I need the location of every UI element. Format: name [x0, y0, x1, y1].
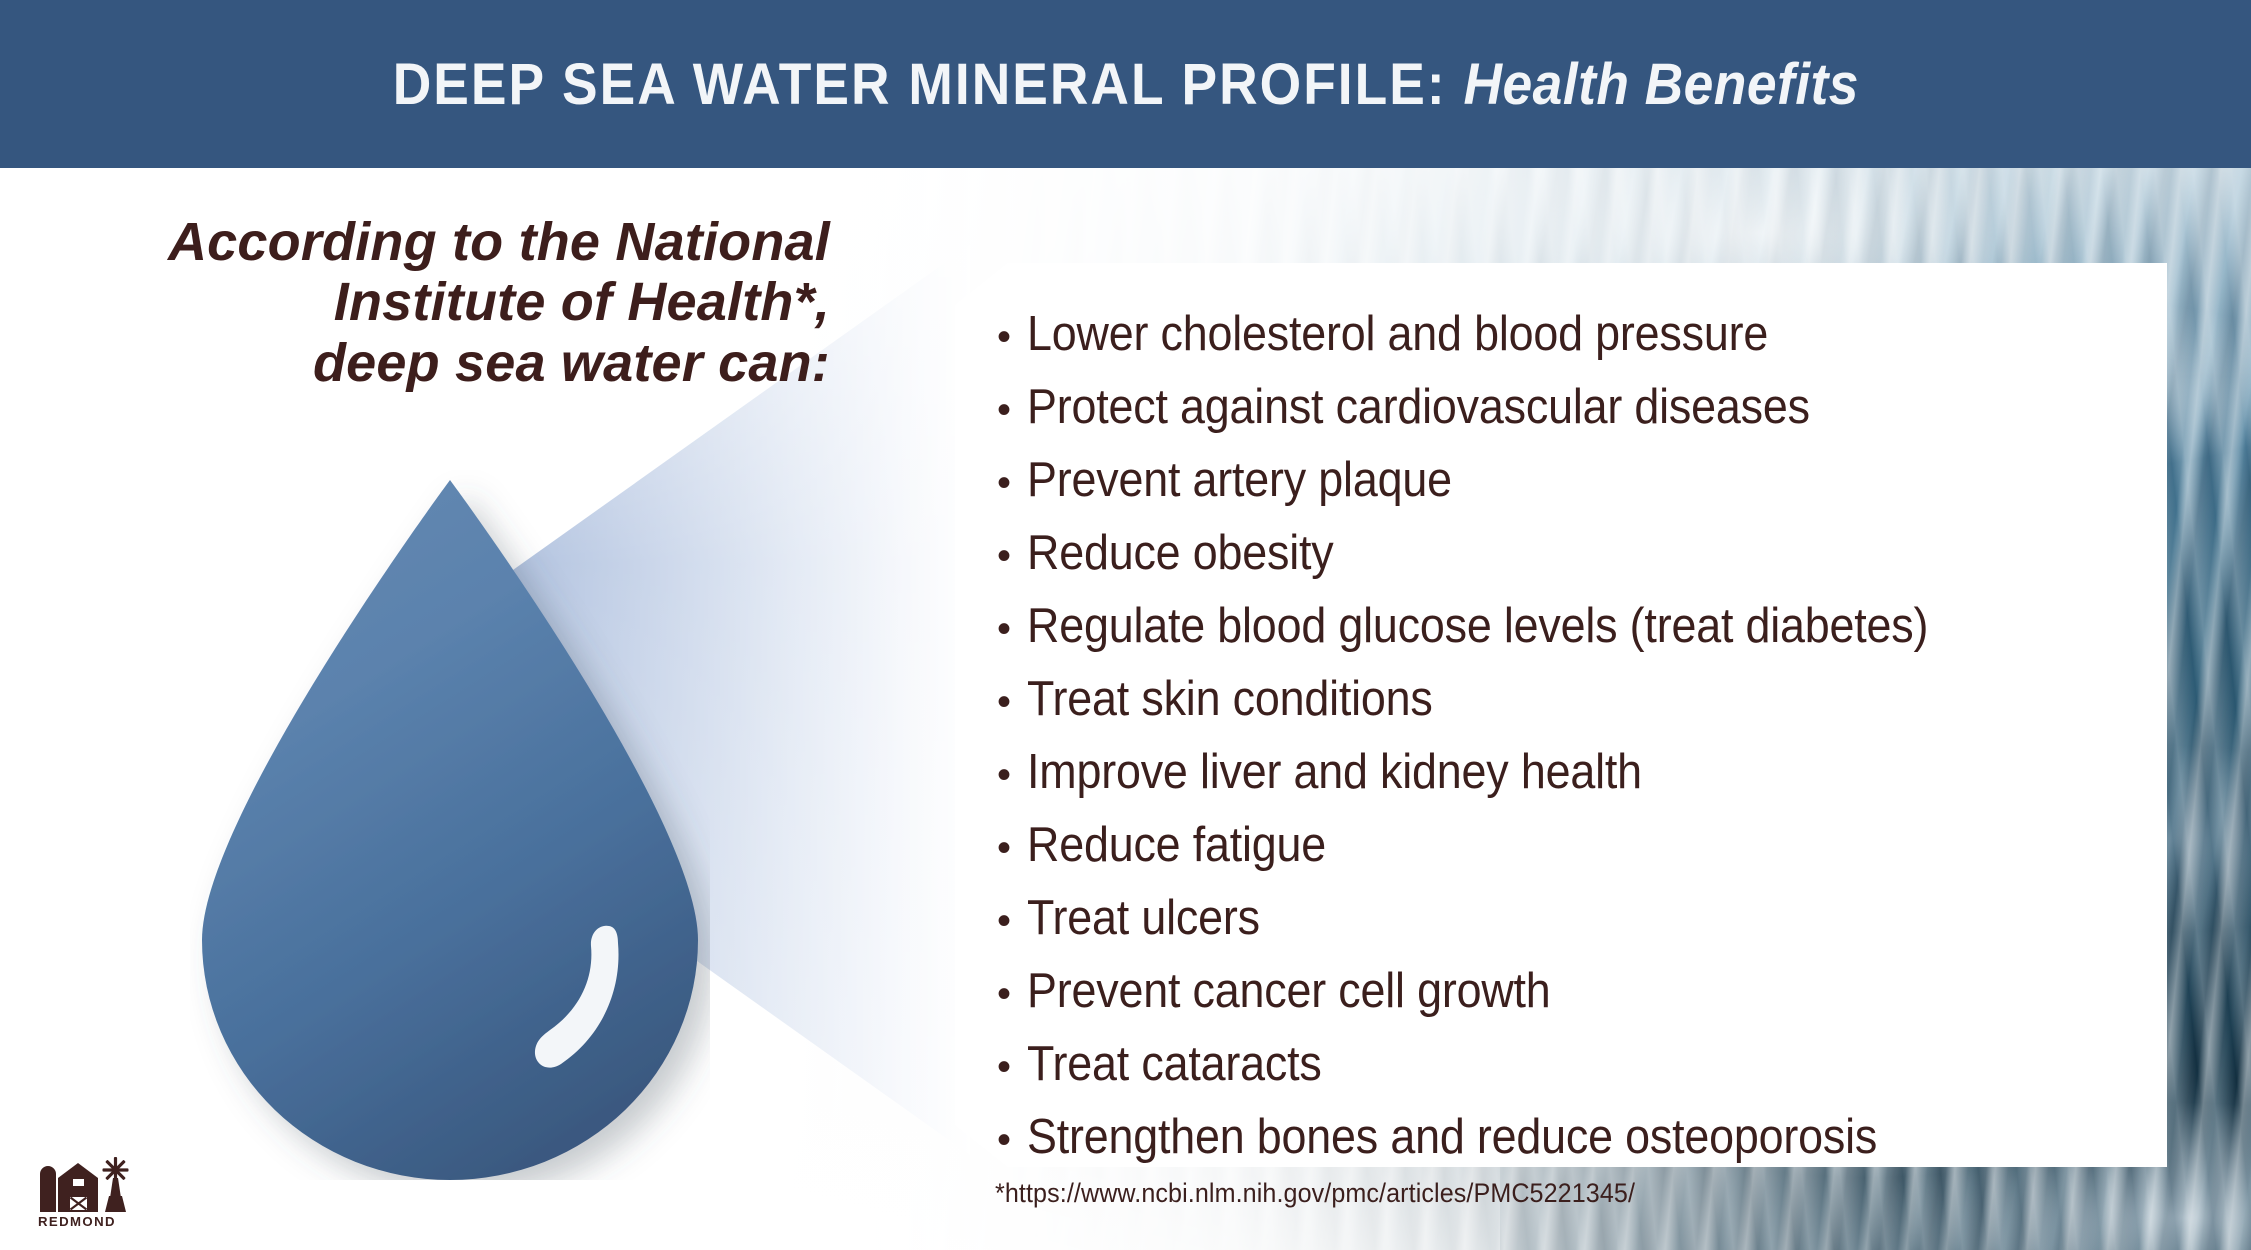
list-item: • Treat skin conditions [997, 664, 2143, 737]
lead-line-2: Institute of Health*, [40, 272, 830, 332]
list-item: • Treat ulcers [997, 883, 2143, 956]
source-footnote-text: *https://www.ncbi.nlm.nih.gov/pmc/articl… [995, 1178, 1635, 1209]
list-item: • Reduce obesity [997, 518, 2143, 591]
header-bar: DEEP SEA WATER MINERAL PROFILE: Health B… [0, 0, 2251, 168]
list-item-label: Protect against cardiovascular diseases [1027, 372, 1810, 442]
list-item: • Strengthen bones and reduce osteoporos… [997, 1102, 2143, 1175]
water-droplet-icon [190, 470, 710, 1180]
list-item-label: Improve liver and kidney health [1027, 737, 1642, 807]
list-item: • Lower cholesterol and blood pressure [997, 299, 2143, 372]
lead-line-3: deep sea water can: [40, 333, 830, 393]
source-footnote: *https://www.ncbi.nlm.nih.gov/pmc/articl… [995, 1178, 1683, 1209]
bullet-dot-icon: • [997, 959, 1027, 1029]
list-item: • Regulate blood glucose levels (treat d… [997, 591, 2143, 664]
redmond-logo: REDMOND [36, 1152, 136, 1230]
list-item: • Prevent cancer cell growth [997, 956, 2143, 1029]
list-item-label: Regulate blood glucose levels (treat dia… [1027, 591, 1928, 661]
list-item-label: Prevent cancer cell growth [1027, 956, 1551, 1026]
list-item: • Protect against cardiovascular disease… [997, 372, 2143, 445]
lead-heading: According to the National Institute of H… [40, 212, 830, 393]
list-item-label: Treat ulcers [1027, 883, 1260, 953]
bullet-dot-icon: • [997, 813, 1027, 883]
list-item-label: Treat cataracts [1027, 1029, 1322, 1099]
list-item-label: Reduce fatigue [1027, 810, 1326, 880]
bullet-dot-icon: • [997, 375, 1027, 445]
bullet-dot-icon: • [997, 302, 1027, 372]
list-item: • Prevent artery plaque [997, 445, 2143, 518]
bullet-dot-icon: • [997, 521, 1027, 591]
benefits-list: • Lower cholesterol and blood pressure •… [997, 299, 2143, 1175]
benefits-card: • Lower cholesterol and blood pressure •… [955, 263, 2167, 1167]
slide-canvas: DEEP SEA WATER MINERAL PROFILE: Health B… [0, 0, 2251, 1250]
page-title: DEEP SEA WATER MINERAL PROFILE: Health B… [392, 51, 1858, 118]
list-item-label: Lower cholesterol and blood pressure [1027, 299, 1768, 369]
bullet-dot-icon: • [997, 448, 1027, 518]
bullet-dot-icon: • [997, 594, 1027, 664]
list-item-label: Treat skin conditions [1027, 664, 1433, 734]
list-item: • Reduce fatigue [997, 810, 2143, 883]
bullet-dot-icon: • [997, 1032, 1027, 1102]
bullet-dot-icon: • [997, 886, 1027, 956]
benefits-card-inner: • Lower cholesterol and blood pressure •… [997, 299, 2143, 1143]
list-item-label: Strengthen bones and reduce osteoporosis [1027, 1102, 1877, 1172]
page-title-main: DEEP SEA WATER MINERAL PROFILE: [392, 52, 1446, 117]
list-item-label: Prevent artery plaque [1027, 445, 1452, 515]
page-title-accent: Health Benefits [1463, 52, 1858, 117]
list-item-label: Reduce obesity [1027, 518, 1333, 588]
redmond-wordmark: REDMOND [38, 1214, 116, 1229]
lead-line-1: According to the National [40, 212, 830, 272]
bullet-dot-icon: • [997, 740, 1027, 810]
list-item: • Treat cataracts [997, 1029, 2143, 1102]
bullet-dot-icon: • [997, 667, 1027, 737]
list-item: • Improve liver and kidney health [997, 737, 2143, 810]
